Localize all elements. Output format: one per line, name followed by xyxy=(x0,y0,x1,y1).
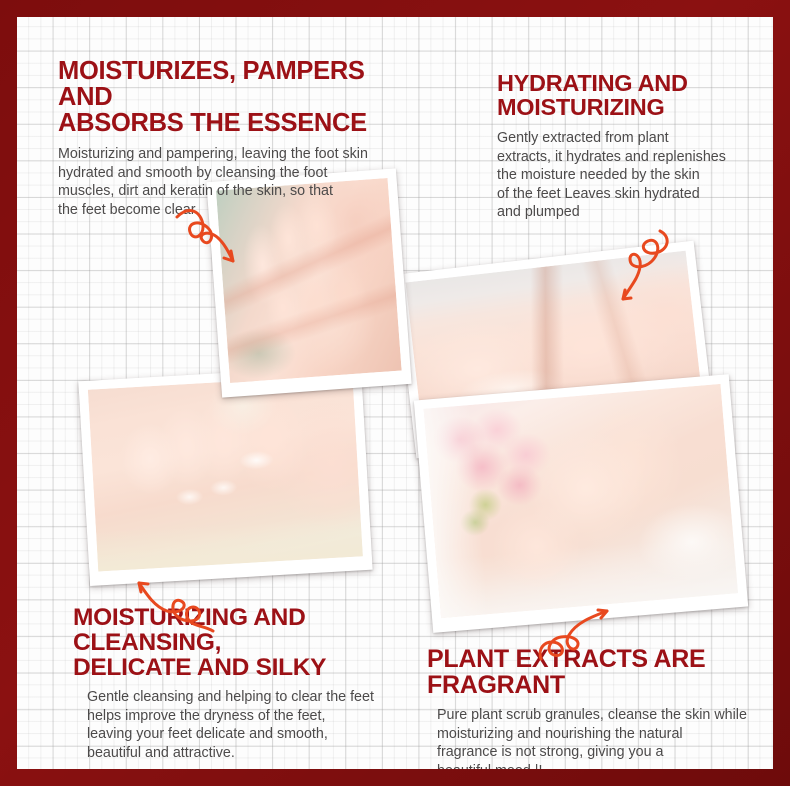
feature-heading-hydrating-moisturizing: HYDRATING AND MOISTURIZING xyxy=(497,72,767,120)
feature-body-hydrating-moisturizing: Gently extracted from plant extracts, it… xyxy=(497,129,767,222)
feature-block-plant-extracts-fragrant: PLANT EXTRACTS ARE FRAGRANT Pure plant s… xyxy=(427,647,773,769)
feature-body-moisturizing-cleansing: Gentle cleansing and helping to clear th… xyxy=(73,688,453,762)
feature-heading-moisturizes-pampers: MOISTURIZES, PAMPERS AND ABSORBS THE ESS… xyxy=(58,58,418,136)
feature-body-plant-extracts-fragrant: Pure plant scrub granules, cleanse the s… xyxy=(427,706,773,769)
feature-block-hydrating-moisturizing: HYDRATING AND MOISTURIZING Gently extrac… xyxy=(497,72,767,222)
feature-body-moisturizes-pampers: Moisturizing and pampering, leaving the … xyxy=(58,145,418,219)
photo-toes-towel xyxy=(78,365,372,586)
promo-page: MOISTURIZES, PAMPERS AND ABSORBS THE ESS… xyxy=(0,0,790,786)
feature-block-moisturizes-pampers: MOISTURIZES, PAMPERS AND ABSORBS THE ESS… xyxy=(58,58,418,219)
feature-heading-moisturizing-cleansing: MOISTURIZING AND CLEANSING, DELICATE AND… xyxy=(73,605,453,680)
feature-block-moisturizing-cleansing: MOISTURIZING AND CLEANSING, DELICATE AND… xyxy=(73,605,453,762)
photo-toes-towel-image xyxy=(88,375,363,572)
photo-spa-orchids xyxy=(414,374,748,633)
photo-spa-orchids-artwork xyxy=(424,384,739,618)
graph-paper-canvas: MOISTURIZES, PAMPERS AND ABSORBS THE ESS… xyxy=(17,17,773,769)
feature-heading-plant-extracts-fragrant: PLANT EXTRACTS ARE FRAGRANT xyxy=(427,647,773,698)
photo-spa-orchids-image xyxy=(424,384,739,618)
photo-toes-towel-artwork xyxy=(88,375,363,572)
